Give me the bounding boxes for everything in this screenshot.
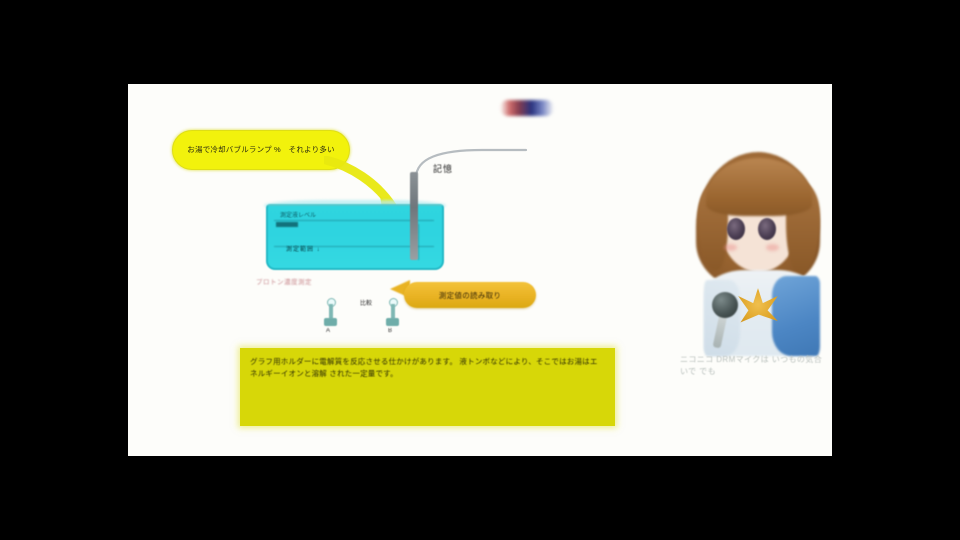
- note-text-box-text: グラフ用ホルダーに電解質を反応させる仕かけがあります。 液トンボなどにより、そこ…: [250, 356, 605, 381]
- avatar-caption: ニコニコ DRMマイクは いつもの気合いで でも: [680, 354, 830, 378]
- pillarbox-left: [0, 0, 128, 540]
- yellow-speech-bubble: お湯で冷却バブルランプ % それより多い: [172, 130, 350, 170]
- sample-a-label: A: [326, 328, 330, 334]
- letterbox-top: [128, 0, 832, 84]
- blush-left: [724, 244, 737, 251]
- tank-label-inner: 測定範囲 ↓: [286, 244, 321, 253]
- tank-dark-swatch: [276, 222, 298, 227]
- sample-body-icon: [329, 304, 333, 319]
- probe-wire-icon: [410, 144, 530, 180]
- sample-icon-b: [386, 298, 399, 328]
- tank-label-top: 測定液レベル: [280, 210, 316, 219]
- tank-marker-line: [418, 224, 419, 260]
- microphone-icon: [712, 292, 738, 318]
- sample-base-icon: [386, 318, 399, 326]
- blush-right: [766, 244, 779, 251]
- note-text-box: グラフ用ホルダーに電解質を反応させる仕かけがあります。 液トンボなどにより、そこ…: [240, 348, 615, 426]
- letterbox-bottom: [128, 456, 832, 540]
- channel-logo: [500, 100, 554, 116]
- sample-middle-label: 比較: [360, 298, 372, 307]
- video-player: お湯で冷却バブルランプ % それより多い 記憶 測定液レベル 測定範囲 ↓ プロ…: [0, 0, 960, 540]
- orange-callout-bubble: 測定値の読み取り: [404, 282, 536, 308]
- sample-base-icon: [324, 318, 337, 326]
- yellow-speech-bubble-text: お湯で冷却バブルランプ % それより多い: [187, 145, 334, 156]
- avatar: [680, 152, 832, 356]
- pink-caption: プロトン濃度測定: [256, 276, 312, 286]
- slide-canvas: お湯で冷却バブルランプ % それより多い 記憶 測定液レベル 測定範囲 ↓ プロ…: [128, 84, 832, 456]
- collar-right: [772, 276, 820, 356]
- pillarbox-right: [832, 0, 960, 540]
- eye-left: [727, 218, 745, 240]
- sample-icon-a: [324, 298, 337, 328]
- probe-electrode: [410, 172, 418, 260]
- orange-callout-text: 測定値の読み取り: [439, 290, 501, 301]
- probe-label: 記憶: [433, 162, 453, 175]
- sample-body-icon: [391, 304, 395, 319]
- sample-b-label: B: [388, 328, 392, 334]
- eye-right: [758, 218, 776, 240]
